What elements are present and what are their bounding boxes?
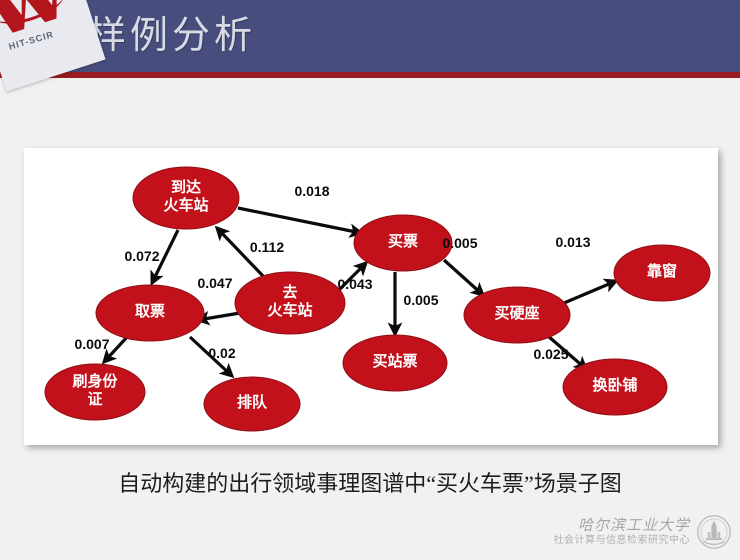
university-emblem-icon [696, 514, 732, 550]
graph-node-label: 买票 [388, 233, 418, 250]
graph-edge [444, 260, 483, 295]
graph-edge [238, 208, 361, 233]
graph-node: 买站票 [343, 335, 447, 391]
graph-node: 去火车站 [235, 272, 345, 334]
graph-edge-weight: 0.005 [442, 235, 477, 251]
graph-edge-weight: 0.018 [294, 183, 329, 199]
graph-node-label: 买硬座 [494, 304, 539, 322]
graph-node-label: 取票 [135, 303, 165, 320]
footer-university-name: 哈尔滨工业大学 [554, 518, 691, 535]
graph-node-label: 买站票 [372, 352, 417, 370]
page-title: 样例分析 [88, 8, 256, 64]
graph-node-label: 靠窗 [647, 262, 677, 280]
graph-node: 买票 [354, 215, 452, 271]
graph-edge-weight: 0.043 [337, 276, 372, 292]
graph-node: 排队 [204, 377, 300, 431]
graph-nodes-layer: 到达火车站去火车站取票买票刷身份证排队买站票买硬座靠窗换卧铺 [45, 167, 710, 431]
graph-edge [564, 281, 616, 303]
footer-text-block: 哈尔滨工业大学 社会计算与信息检索研究中心 [554, 518, 691, 547]
graph-edge-weight: 0.013 [555, 234, 590, 250]
graph-node: 到达火车站 [133, 167, 239, 229]
graph-node-label: 排队 [237, 393, 268, 411]
graph-edge-weight: 0.025 [533, 346, 568, 362]
graph-node-label: 换卧铺 [592, 376, 637, 394]
event-graph-diagram: 到达火车站去火车站取票买票刷身份证排队买站票买硬座靠窗换卧铺 0.0180.07… [24, 148, 718, 445]
graph-edge-weight: 0.02 [208, 345, 235, 361]
slide-footer: 哈尔滨工业大学 社会计算与信息检索研究中心 [554, 510, 733, 554]
graph-edge-weight: 0.005 [403, 292, 438, 308]
figure-caption: 自动构建的出行领域事理图谱中“买火车票”场景子图 [0, 466, 740, 498]
graph-node: 取票 [96, 285, 204, 341]
graph-node: 靠窗 [614, 245, 710, 301]
graph-edge-weight: 0.007 [74, 336, 109, 352]
graph-edge-weight: 0.072 [124, 248, 159, 264]
graph-node: 换卧铺 [563, 359, 667, 415]
graph-node: 买硬座 [464, 287, 570, 343]
graph-edge-weight: 0.112 [250, 239, 284, 255]
header-accent-rule [0, 72, 740, 78]
figure-panel: 到达火车站去火车站取票买票刷身份证排队买站票买硬座靠窗换卧铺 0.0180.07… [24, 148, 718, 445]
graph-node: 刷身份证 [45, 364, 145, 420]
graph-edge-weight: 0.047 [197, 275, 232, 291]
footer-lab-name: 社会计算与信息检索研究中心 [554, 535, 691, 547]
